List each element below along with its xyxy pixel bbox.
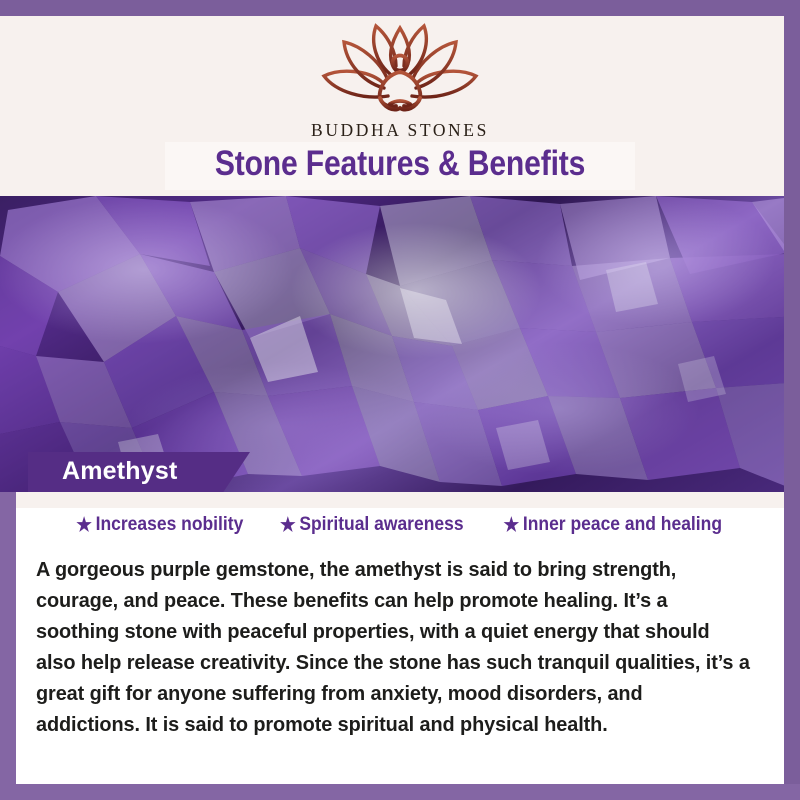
frame-top xyxy=(0,0,800,16)
infographic-page: BUDDHA STONES Stone Features & Benefits xyxy=(0,0,800,800)
amethyst-photo xyxy=(0,196,800,492)
benefit-label: Inner peace and healing xyxy=(523,514,722,536)
stone-name-label: Amethyst xyxy=(62,452,178,492)
benefit-label: Spiritual awareness xyxy=(300,514,464,536)
lotus-meditation-icon xyxy=(0,18,800,118)
star-icon: ★ xyxy=(76,516,92,535)
benefit-label: Increases nobility xyxy=(95,514,243,536)
brand-name: BUDDHA STONES xyxy=(0,120,800,141)
benefit-item: ★ Increases nobility xyxy=(76,514,243,536)
star-icon: ★ xyxy=(503,516,519,535)
content-section: ★ Increases nobility ★ Spiritual awarene… xyxy=(16,492,784,784)
frame-right xyxy=(784,0,800,800)
star-icon: ★ xyxy=(280,516,296,535)
benefit-item: ★ Inner peace and healing xyxy=(503,514,722,536)
page-title: Stone Features & Benefits xyxy=(56,140,744,188)
frame-left xyxy=(0,492,16,800)
description-paragraph: A gorgeous purple gemstone, the amethyst… xyxy=(36,554,750,740)
benefits-list: ★ Increases nobility ★ Spiritual awarene… xyxy=(16,514,784,536)
cream-divider xyxy=(16,492,784,508)
benefit-item: ★ Spiritual awareness xyxy=(280,514,464,536)
frame-bottom xyxy=(0,784,800,800)
brand-logo: BUDDHA STONES xyxy=(0,18,800,141)
